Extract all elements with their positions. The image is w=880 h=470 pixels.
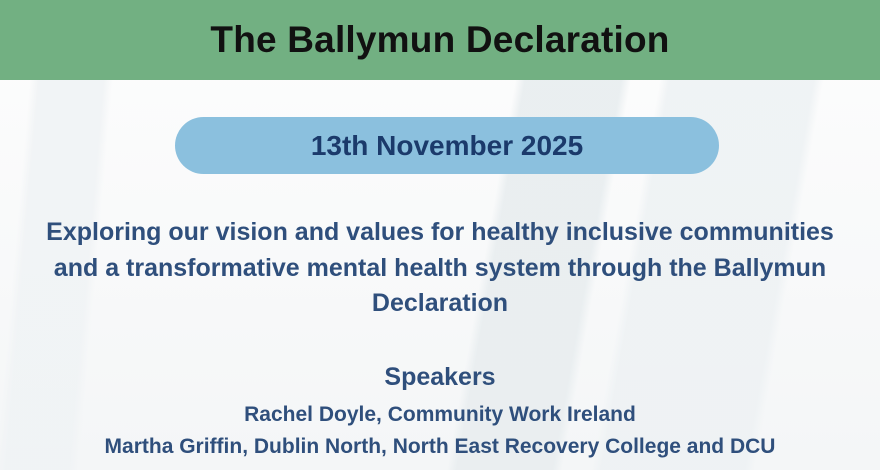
poster-slide: The Ballymun Declaration 13th November 2… bbox=[0, 0, 880, 470]
speaker-item: Martha Griffin, Dublin North, North East… bbox=[0, 435, 880, 459]
speakers-heading: Speakers bbox=[0, 363, 880, 392]
page-title: The Ballymun Declaration bbox=[210, 19, 669, 61]
speaker-item: Rachel Doyle, Community Work Ireland bbox=[0, 403, 880, 427]
date-badge: 13th November 2025 bbox=[175, 117, 719, 174]
header-band: The Ballymun Declaration bbox=[0, 0, 880, 80]
date-badge-label: 13th November 2025 bbox=[311, 130, 583, 162]
subtitle-text: Exploring our vision and values for heal… bbox=[40, 215, 840, 322]
